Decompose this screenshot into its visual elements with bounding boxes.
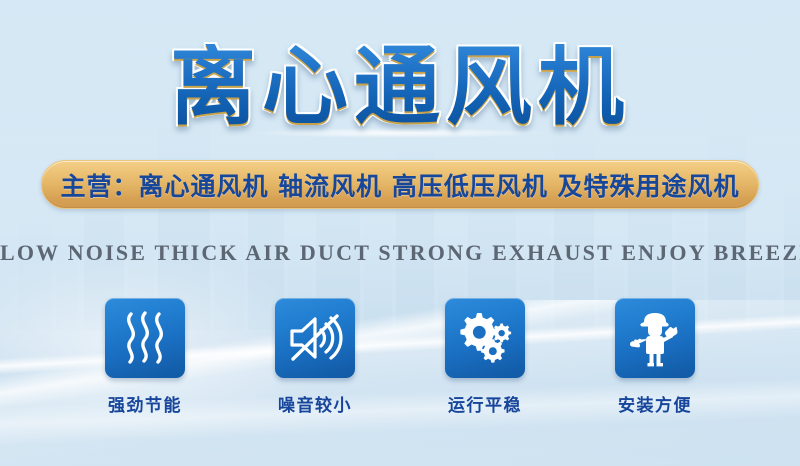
product-banner: 离心通风机 主营：离心通风机 轴流风机 高压低压风机 及特殊用途风机 LOW N…: [0, 0, 800, 466]
subtitle-bar-wrapper: 主营：离心通风机 轴流风机 高压低压风机 及特殊用途风机: [41, 160, 759, 209]
feature-tile: [615, 298, 695, 378]
feature-item-low-noise[interactable]: 噪音较小: [275, 298, 355, 416]
feature-item-smooth-operation[interactable]: 运行平稳: [445, 298, 525, 416]
banner-title: 离心通风机: [170, 44, 630, 130]
banner-title-wrapper: 离心通风机: [0, 44, 800, 130]
airflow-waves-icon: [119, 310, 171, 366]
english-tagline: LOW NOISE THICK AIR DUCT STRONG EXHAUST …: [0, 240, 800, 266]
feature-label: 运行平稳: [445, 391, 525, 416]
gears-icon: [457, 311, 513, 365]
feature-item-easy-install[interactable]: 安装方便: [615, 298, 695, 416]
muted-speaker-icon: [287, 312, 343, 364]
feature-list: 强劲节能 噪音较小: [0, 298, 800, 416]
feature-tile: [445, 298, 525, 378]
feature-tile: [275, 298, 355, 378]
feature-tile: [105, 298, 185, 378]
worker-wrench-icon: [627, 308, 683, 368]
feature-label: 噪音较小: [275, 391, 355, 416]
subtitle-bar: 主营：离心通风机 轴流风机 高压低压风机 及特殊用途风机: [41, 160, 759, 209]
feature-label: 强劲节能: [105, 391, 185, 416]
subtitle-bar-text: 主营：离心通风机 轴流风机 高压低压风机 及特殊用途风机: [60, 167, 739, 203]
feature-label: 安装方便: [615, 391, 695, 416]
feature-item-energy-saving[interactable]: 强劲节能: [105, 298, 185, 416]
